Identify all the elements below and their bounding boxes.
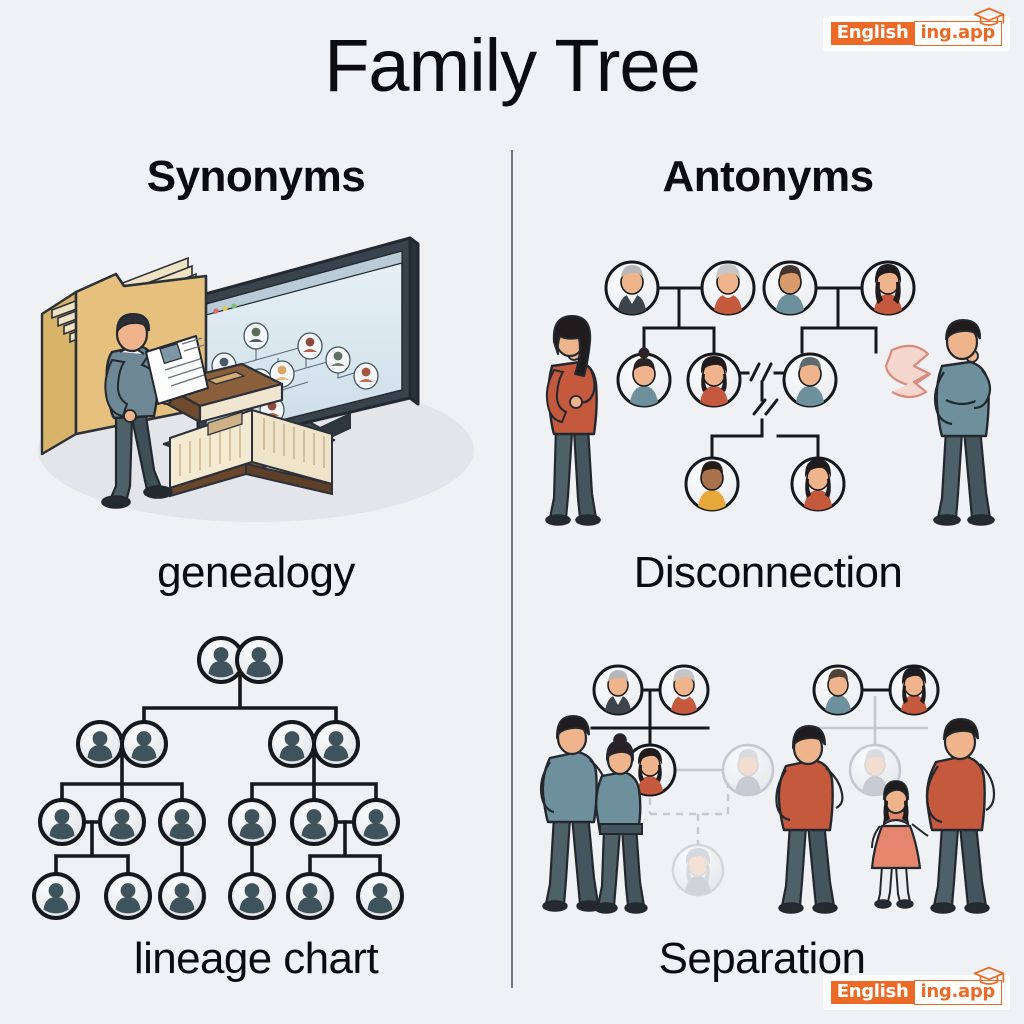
avatar-father (784, 354, 836, 406)
lineage-node (78, 722, 122, 766)
pensive-man-figure (934, 320, 994, 525)
lineage-node (288, 874, 332, 918)
torn-bond-shape (886, 346, 930, 397)
avatar-right-mother (890, 666, 938, 714)
brand-logo-top[interactable]: English ing.app (823, 16, 1010, 51)
lineage-node (358, 874, 402, 918)
broken-link-marks (751, 364, 777, 414)
lineage-connector-lines (56, 660, 380, 880)
graduation-cap-icon (972, 6, 1006, 28)
caption-disconnection: Disconnection (522, 548, 1014, 598)
caption-lineage-chart: lineage chart (10, 934, 502, 984)
avatar-grandmother-2 (862, 262, 914, 314)
avatar-left-grandfather (594, 666, 642, 714)
column-heading-antonyms: Antonyms (512, 152, 1024, 202)
disconnection-illustration (532, 232, 1004, 536)
graduation-cap-icon-bottom (972, 965, 1006, 987)
lineage-chart-diagram (20, 632, 492, 922)
column-heading-synonyms: Synonyms (0, 152, 512, 202)
avatar-right-father (814, 666, 862, 714)
lineage-node (237, 638, 281, 682)
avatar-left-absent-child-ghost (673, 845, 723, 895)
poster-root: Family Tree English ing.app Synonyms Ant… (0, 0, 1024, 1024)
illustration-disconnection (532, 232, 1004, 536)
avatar-left-grandmother (660, 666, 708, 714)
logo-wrap: English ing.app (831, 21, 1002, 46)
lineage-node (314, 722, 358, 766)
illustration-separation (532, 648, 1012, 928)
lineage-node (270, 722, 314, 766)
avatar-mother (688, 354, 740, 406)
lineage-node (292, 800, 336, 844)
logo-text-english-bottom: English (831, 981, 915, 1004)
sad-woman-figure (546, 316, 600, 525)
logo-text-english: English (831, 22, 915, 45)
lineage-node (230, 874, 274, 918)
lineage-node (122, 722, 166, 766)
separation-illustration (532, 648, 1012, 928)
logo-wrap-bottom: English ing.app (831, 980, 1002, 1005)
avatar-daughter (792, 458, 844, 510)
lineage-node (354, 800, 398, 844)
avatar-aunt (618, 348, 670, 407)
column-divider (511, 150, 513, 988)
lineage-node (160, 800, 204, 844)
avatar-left-absent-father-ghost (723, 745, 773, 795)
lineage-node (106, 874, 150, 918)
illustration-lineage-chart (20, 632, 492, 922)
lineage-node (100, 800, 144, 844)
avatar-grandfather-2 (764, 262, 816, 314)
caption-genealogy: genealogy (20, 548, 492, 598)
avatar-son (686, 458, 738, 510)
genealogy-research-illustration (20, 218, 492, 536)
lineage-node (34, 874, 78, 918)
brand-logo-bottom[interactable]: English ing.app (823, 975, 1010, 1010)
avatar-grandmother (702, 262, 754, 314)
lineage-node (40, 800, 84, 844)
left-family-group (541, 716, 647, 913)
illustration-genealogy (20, 218, 492, 536)
lineage-node (160, 874, 204, 918)
tree-connector-lines (644, 288, 876, 458)
avatar-grandfather (606, 262, 658, 314)
lineage-node (230, 800, 274, 844)
